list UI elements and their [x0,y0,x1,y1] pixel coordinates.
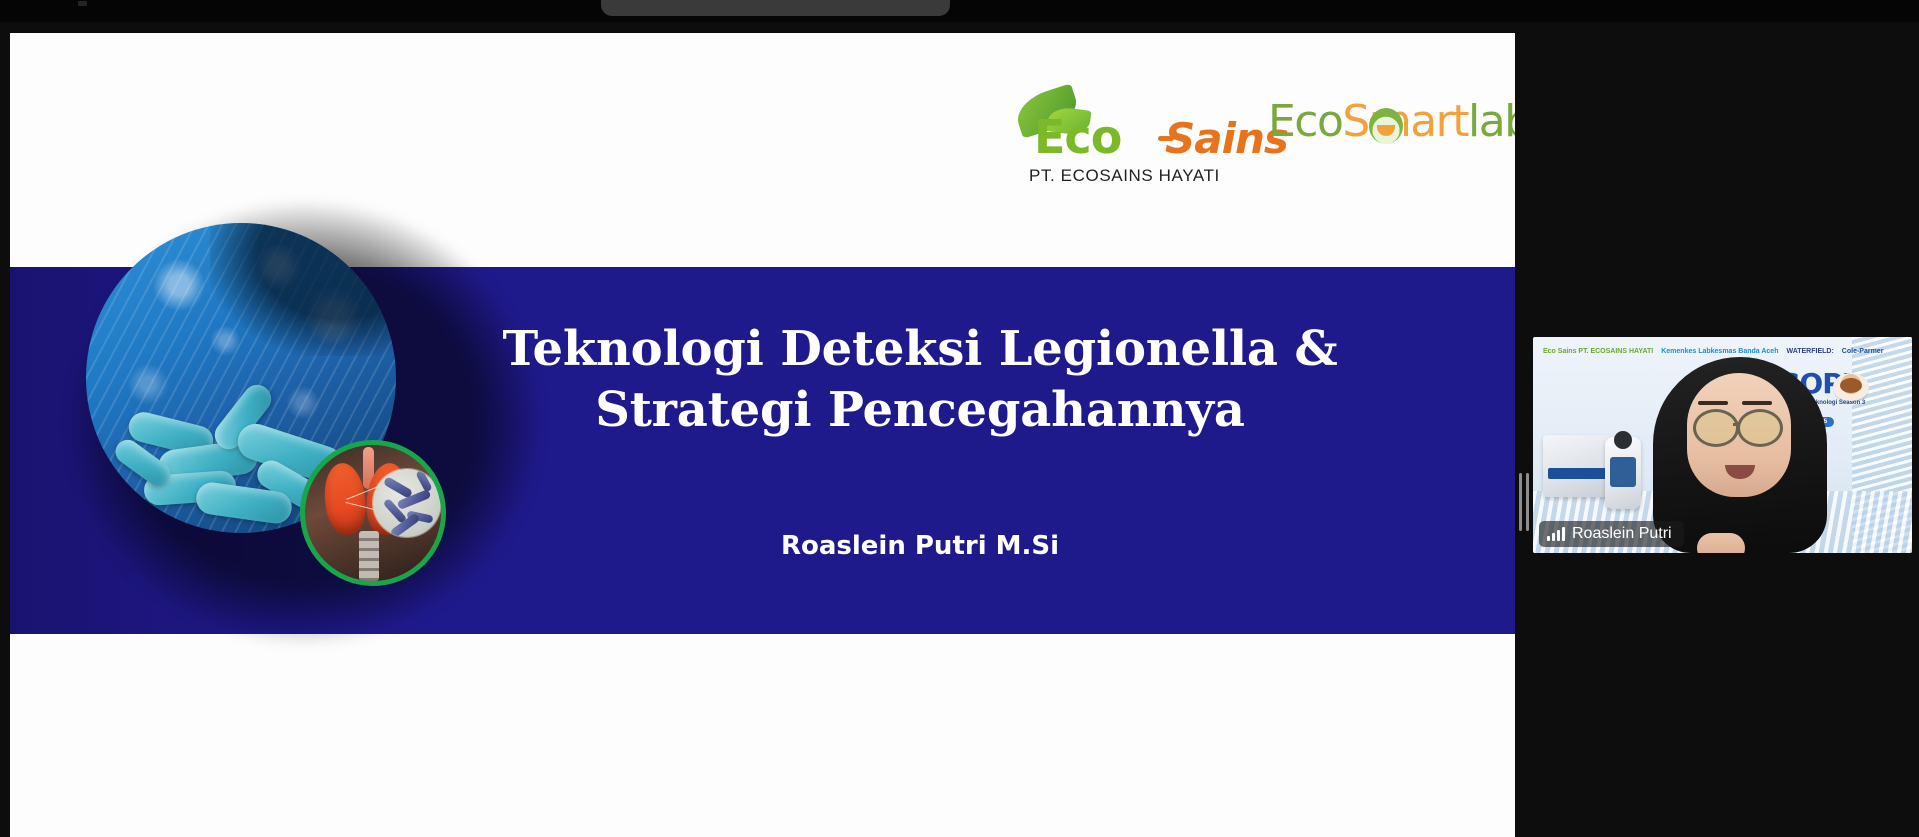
eco-sains-logo-eco: Eco [1034,110,1121,164]
sponsor-eco-sains: Eco Sains PT. ECOSAINS HAYATI [1543,348,1653,355]
bacteria-dark-overlay [210,223,396,356]
sponsor-waterfield: WATERFIELD: [1786,348,1833,355]
meeting-controls-pill[interactable] [601,0,950,16]
smartlab-eco: Eco [1268,96,1342,147]
person-hand [1697,533,1745,553]
audio-level-bars-icon [1547,527,1565,541]
bacteria-inset-image [373,469,441,537]
toolbar-menu-icon[interactable] [78,1,87,6]
person-brow-right [1742,401,1772,405]
eyeglasses-left-lens [1693,409,1739,447]
eyeglasses-right-lens [1737,409,1783,447]
spine-shape [359,531,379,581]
lung-circle-image [300,440,446,586]
lung-left-shape [321,461,368,537]
panel-resize-handle[interactable] [1517,470,1531,534]
eco-smartlab-logo: EcoSmartlab [1268,96,1515,147]
smartlab-smart: Smart [1342,96,1468,147]
eyeglasses-bridge [1733,423,1739,426]
handheld-device-image [1605,437,1641,509]
sponsor-cole-parmer: Cole-Parmer [1842,348,1884,355]
shared-screen-slide[interactable]: Eco Sains PT. ECOSAINS HAYATI EcoSmartla… [10,33,1515,837]
sponsor-kemenkes: Kemenkes Labkesmas Banda Aceh [1661,348,1778,355]
resize-grip-bar-2 [1526,473,1529,531]
participant-name-label: Roaslein Putri [1572,525,1672,543]
meeting-toolbar[interactable] [0,0,1919,22]
flask-icon [1369,108,1403,144]
slide-subtitle: Roaslein Putri M.Si [390,531,1450,561]
participant-video-tile[interactable]: Eco Sains PT. ECOSAINS HAYATI Kemenkes L… [1533,337,1912,553]
slide-logo-lockup: Eco Sains PT. ECOSAINS HAYATI EcoSmartla… [1000,68,1480,178]
smartlab-lab: lab [1468,96,1515,147]
slide-title: Teknologi Deteksi Legionella & Strategi … [390,319,1450,442]
person-brow-left [1698,401,1728,405]
meeting-stage: Eco Sains PT. ECOSAINS HAYATI EcoSmartla… [0,22,1919,837]
resize-grip-bar-1 [1519,473,1522,531]
eco-sains-logo: Eco Sains PT. ECOSAINS HAYATI [1014,88,1264,178]
participant-name-badge: Roaslein Putri [1539,521,1684,547]
eco-sains-tagline: PT. ECOSAINS HAYATI [1029,166,1220,186]
coffee-cup-icon [1833,373,1869,401]
lab-instrument-image [1543,435,1611,497]
